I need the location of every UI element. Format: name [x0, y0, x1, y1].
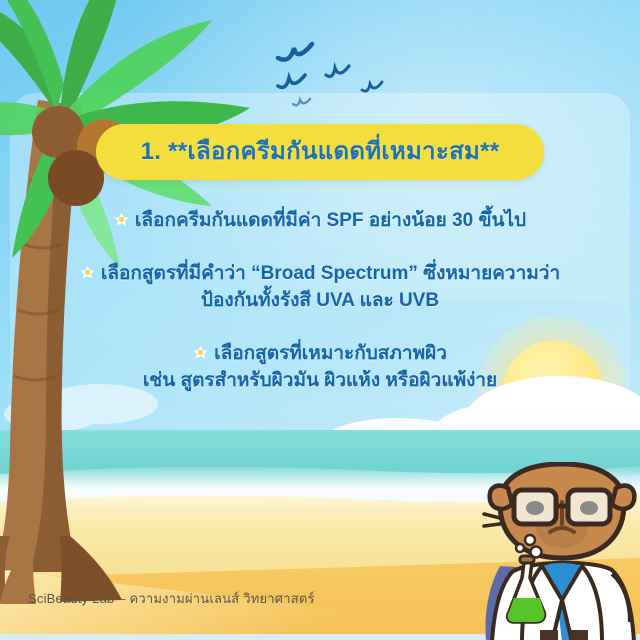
section-title-banner: 1. **เลือกครีมกันแดดที่เหมาะสม** — [96, 124, 544, 180]
bullet-list: เลือกครีมกันแดดที่มีค่า SPF อย่างน้อย 30… — [0, 208, 640, 421]
bullet-line: เลือกสูตรที่เหมาะกับสภาพผิว — [0, 341, 640, 368]
bullet-text-continued: เช่น สูตรสำหรับผิวมัน ผิวแห้ง หรือผิวแพ้… — [0, 368, 640, 395]
list-item: เลือกสูตรที่มีคำว่า “Broad Spectrum” ซึ่… — [0, 261, 640, 315]
list-item: เลือกครีมกันแดดที่มีค่า SPF อย่างน้อย 30… — [0, 208, 640, 235]
bullet-text: เลือกสูตรที่เหมาะกับสภาพผิว — [214, 343, 447, 364]
footer-credit: SciBeauty Lab – ความงามผ่านเลนส์ วิทยาศา… — [28, 588, 315, 609]
sun-flower-icon — [80, 265, 95, 280]
sun-flower-icon — [114, 212, 129, 227]
bullet-text-continued: ป้องกันทั้งรังสี UVA และ UVB — [0, 288, 640, 315]
list-item: เลือกสูตรที่เหมาะกับสภาพผิว เช่น สูตรสำห… — [0, 341, 640, 395]
bullet-line: เลือกครีมกันแดดที่มีค่า SPF อย่างน้อย 30… — [0, 208, 640, 235]
sun-flower-icon — [193, 345, 208, 360]
bullet-line: เลือกสูตรที่มีคำว่า “Broad Spectrum” ซึ่… — [0, 261, 640, 288]
infographic-card: 1. **เลือกครีมกันแดดที่เหมาะสม** เลือกคร… — [0, 0, 640, 640]
bullet-text: เลือกครีมกันแดดที่มีค่า SPF อย่างน้อย 30… — [135, 210, 526, 231]
bullet-text: เลือกสูตรที่มีคำว่า “Broad Spectrum” ซึ่… — [101, 263, 560, 284]
capybara-scientist-icon — [478, 462, 640, 640]
page-title: 1. **เลือกครีมกันแดดที่เหมาะสม** — [141, 140, 500, 164]
